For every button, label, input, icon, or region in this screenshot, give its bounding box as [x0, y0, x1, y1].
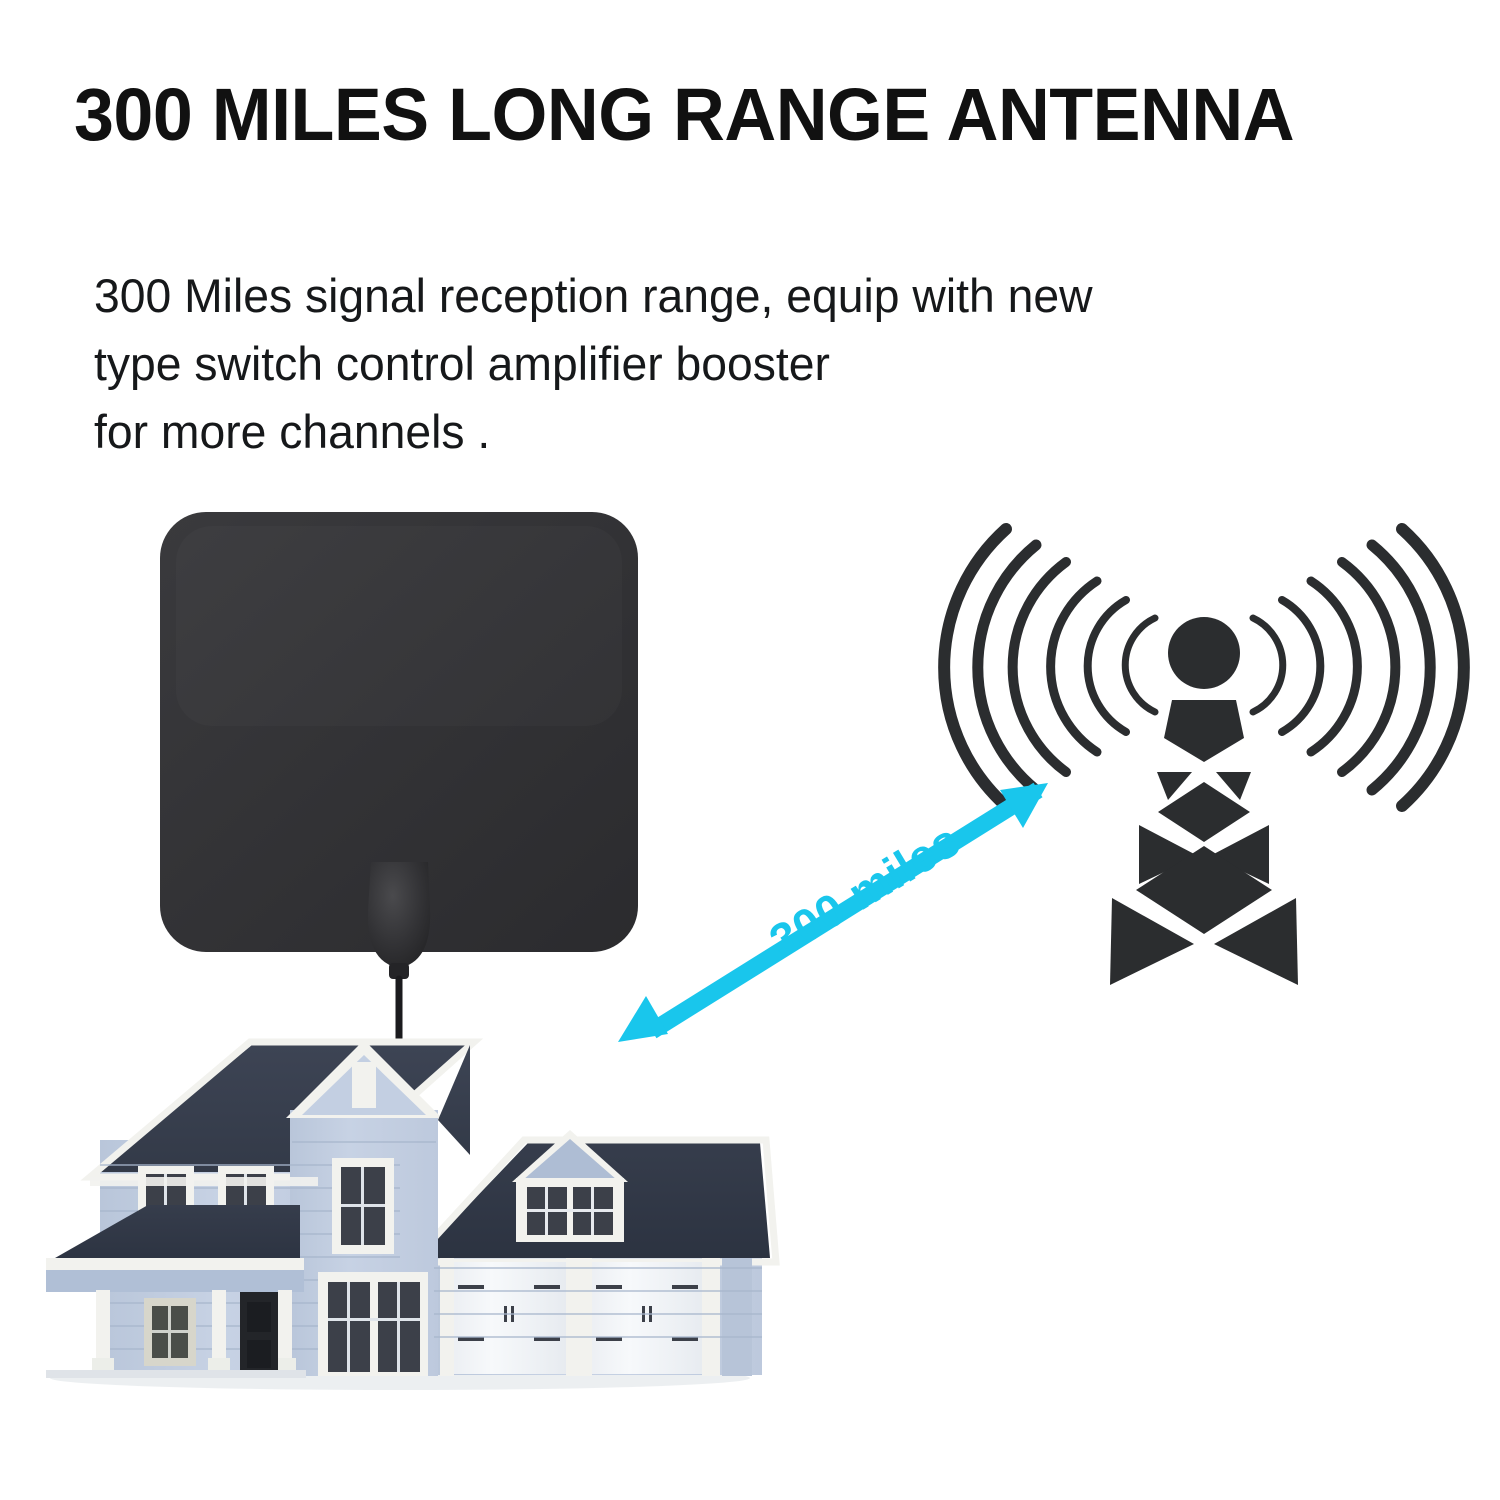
signal-arcs-left: [944, 529, 1155, 806]
signal-arc-left-6: [944, 529, 1006, 806]
center-gable-trim: [286, 1040, 442, 1118]
porch-group: [46, 1205, 306, 1378]
main-roof-eave-trim: [90, 1177, 318, 1186]
porch-column-2: [212, 1290, 226, 1376]
main-roof-left: [95, 1045, 470, 1172]
dormer-mullion-h: [527, 1209, 613, 1212]
antenna-panel-body: [160, 512, 638, 952]
porch-column-1: [96, 1290, 110, 1376]
porch-column-base-3: [274, 1358, 296, 1376]
broadcast-tower-group: [944, 529, 1464, 985]
dormer-mullion-v2: [591, 1187, 594, 1235]
antenna-panel-sheen: [176, 526, 622, 726]
porch-column-3: [278, 1290, 292, 1376]
signal-arcs-right: [1253, 529, 1464, 806]
signal-arc-left-5: [978, 545, 1036, 790]
garage-door-right: [590, 1262, 704, 1374]
center-gable-right-slope: [438, 1045, 470, 1155]
upper-windows: [138, 1166, 274, 1256]
tower-emitter-head: [1168, 617, 1240, 689]
window-glass-u1: [146, 1174, 186, 1248]
signal-arc-left-4: [1013, 562, 1066, 772]
dormer-mullion-v1: [545, 1187, 548, 1235]
porch-column-base-1: [92, 1358, 114, 1376]
garage-roof: [418, 1143, 770, 1258]
illustration-area: [0, 0, 1500, 1500]
distance-arrow-head-right: [1000, 783, 1048, 828]
description-text: 300 Miles signal reception range, equip …: [94, 262, 1424, 466]
description-line-2: type switch control amplifier booster: [94, 330, 1404, 398]
antenna-panel-group: [160, 512, 638, 1070]
dormer-gable-glass: [523, 1139, 617, 1180]
signal-arc-right-1: [1253, 618, 1283, 712]
center-gable-vent: [352, 1062, 376, 1108]
tower-lattice-tri-l1: [1157, 772, 1192, 800]
main-house-wall: [100, 1140, 400, 1376]
tower-leg-left: [1110, 898, 1194, 985]
front-door-panel-bottom: [247, 1340, 271, 1368]
porch-window-glass: [152, 1306, 188, 1358]
description-line-3: for more channels .: [94, 398, 1404, 466]
porch-floor: [46, 1370, 306, 1378]
siding-lines: [100, 1142, 762, 1349]
front-door: [240, 1292, 278, 1376]
antenna-connector-bulb: [368, 862, 430, 968]
description-line-1: 300 Miles signal reception range, equip …: [94, 262, 1404, 330]
center-gable-face: [302, 1055, 426, 1115]
signal-arc-left-2: [1088, 600, 1126, 732]
house-ground-shadow: [50, 1366, 750, 1390]
front-door-panel-top: [247, 1302, 271, 1332]
signal-arc-right-6: [1402, 529, 1464, 806]
garage-dormer: [512, 1130, 628, 1242]
dormer-window-right: [573, 1187, 613, 1235]
garage-wall: [432, 1245, 762, 1375]
porch-roof: [48, 1205, 300, 1262]
porch-soffit: [46, 1270, 304, 1292]
signal-arc-right-5: [1372, 545, 1430, 790]
garage-roof-trim: [412, 1140, 776, 1262]
tower-lattice-diamond-1: [1158, 782, 1250, 842]
dormer-gable-trim: [512, 1130, 628, 1182]
window-frame-u1: [138, 1166, 194, 1256]
tower-neck-pentagon: [1164, 700, 1244, 762]
distance-arrow-head-left: [618, 996, 668, 1042]
tower-lattice-tri-r1: [1216, 772, 1251, 800]
garage-pier-2: [566, 1258, 592, 1376]
garage-pier-3: [702, 1258, 720, 1376]
center-gable-wall: [290, 1110, 438, 1376]
tower-lattice-diamond-2: [1136, 846, 1272, 934]
center-gable-window: [332, 1158, 394, 1254]
signal-arc-right-3: [1311, 581, 1357, 752]
porch-window-frame: [144, 1298, 196, 1366]
tower-lattice-tri-l2: [1139, 825, 1198, 884]
porch-column-base-2: [208, 1358, 230, 1376]
page-title: 300 MILES LONG RANGE ANTENNA: [74, 72, 1413, 158]
garage-corner-siding: [722, 1258, 752, 1376]
promo-graphic-canvas: 300 MILES LONG RANGE ANTENNA 300 Miles s…: [0, 0, 1500, 1500]
main-roof-left-trim: [90, 1042, 474, 1177]
dormer-frame: [516, 1178, 624, 1242]
window-glass-u2: [226, 1174, 266, 1248]
signal-arc-right-4: [1342, 562, 1395, 772]
signal-arc-left-1: [1125, 618, 1155, 712]
distance-label: 300 miles: [762, 816, 967, 964]
signal-arc-right-2: [1282, 600, 1320, 732]
tower-lattice-tri-r2: [1210, 825, 1269, 884]
window-frame-u2: [218, 1166, 274, 1256]
antenna-connector-collar: [389, 963, 409, 979]
garage-door-hardware: [458, 1285, 698, 1341]
signal-arc-left-3: [1051, 581, 1097, 752]
house-group: [46, 1040, 776, 1390]
garage-door-left: [452, 1262, 566, 1374]
dormer-window-left: [527, 1187, 567, 1235]
garage-pier-1: [440, 1258, 454, 1376]
porch-fascia: [46, 1258, 304, 1270]
tower-leg-right: [1214, 898, 1298, 985]
center-ground-window: [318, 1272, 428, 1376]
